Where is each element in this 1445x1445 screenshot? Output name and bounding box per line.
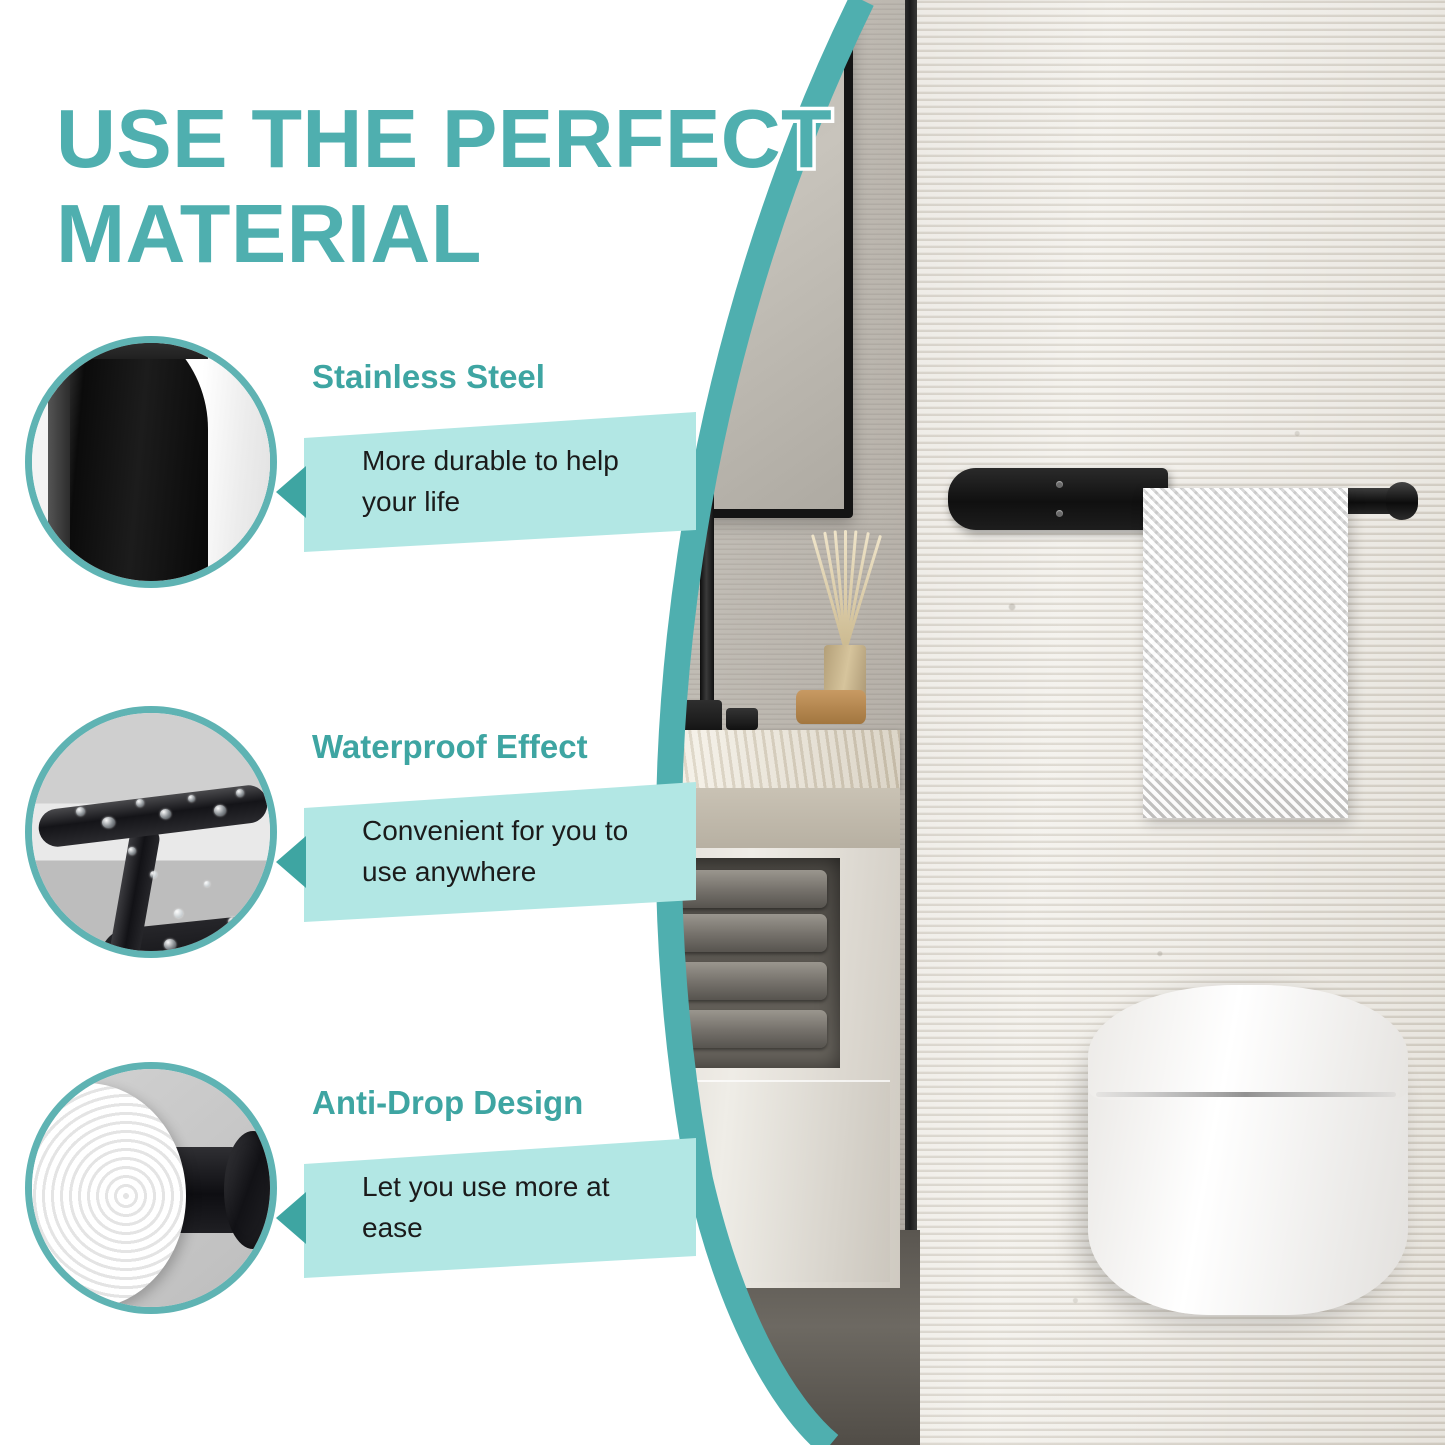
feature-image-stainless-steel	[25, 336, 277, 588]
infographic-canvas: USE THE PERFECT MATERIAL Stainless Steel…	[0, 0, 1445, 1445]
callout-arrow-stainless-steel	[276, 466, 306, 518]
towel-bar-mount-plate	[948, 468, 1168, 530]
feature-heading-anti-drop-design: Anti-Drop Design	[312, 1084, 583, 1122]
feature-image-waterproof-effect	[25, 706, 277, 958]
soap-dish	[796, 690, 866, 724]
feature-image-anti-drop-design	[25, 1062, 277, 1314]
feature-callout-text-anti-drop-design: Let you use more at ease	[304, 1167, 696, 1248]
hanging-towel-hem	[1143, 780, 1348, 818]
feature-callout-waterproof-effect: Convenient for you to use anywhere	[304, 782, 696, 922]
faucet-body	[700, 470, 714, 720]
callout-arrow-waterproof-effect	[276, 836, 306, 888]
feature-callout-stainless-steel: More durable to help your life	[304, 412, 696, 552]
faucet-handle	[726, 708, 758, 730]
callout-arrow-anti-drop-design	[276, 1192, 306, 1244]
towel-bar-end-cap	[1386, 482, 1418, 520]
reed-diffuser-sticks	[824, 525, 866, 650]
feature-heading-stainless-steel: Stainless Steel	[312, 358, 545, 396]
countertop	[560, 730, 900, 788]
feature-callout-text-waterproof-effect: Convenient for you to use anywhere	[304, 811, 696, 892]
feature-callout-anti-drop-design: Let you use more at ease	[304, 1138, 696, 1278]
feature-heading-waterproof-effect: Waterproof Effect	[312, 728, 588, 766]
feature-callout-text-stainless-steel: More durable to help your life	[304, 441, 696, 522]
hanging-towel	[1143, 488, 1348, 818]
page-title: USE THE PERFECT MATERIAL	[56, 92, 936, 281]
tumbler	[600, 630, 672, 740]
toilet-seam	[1096, 1092, 1396, 1097]
